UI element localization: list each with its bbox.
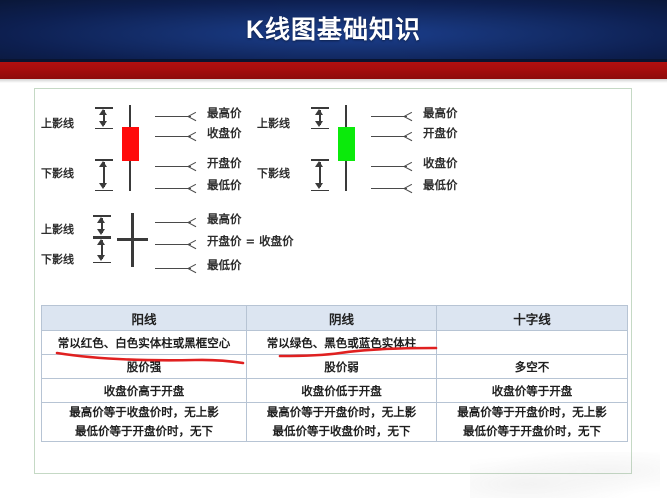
- table-row: 收盘价高于开盘 收盘价低于开盘 收盘价等于开盘: [42, 379, 628, 403]
- open-equals-close-label: 开盘价 = 收盘价: [207, 233, 294, 249]
- upper-shadow-bracket: [311, 107, 329, 129]
- lower-shadow-bracket: [93, 237, 111, 263]
- arrow-to-high: [155, 217, 199, 227]
- cell-doji-strength: 多空不: [437, 355, 628, 379]
- arrow-to-open-close: [155, 239, 199, 249]
- close-price-label: 收盘价: [423, 155, 458, 171]
- low-price-label: 最低价: [207, 257, 242, 273]
- close-price-label: 收盘价: [207, 125, 242, 141]
- lower-shadow-label: 下影线: [41, 251, 74, 267]
- arrow-to-close: [371, 161, 415, 171]
- background-watermark: [470, 452, 660, 498]
- accent-band: [0, 62, 667, 79]
- cell-doji-relation: 收盘价等于开盘: [437, 379, 628, 403]
- content-panel: 上影线 下影线: [34, 88, 632, 474]
- bearish-body: [338, 127, 355, 161]
- cell-bullish-strength: 股价强: [42, 355, 247, 379]
- table-row: 常以红色、白色实体柱或黑框空心 常以绿色、黑色或蓝色实体柱: [42, 331, 628, 355]
- bullish-candle-diagram: 上影线 下影线: [41, 95, 291, 203]
- upper-shadow-bracket: [93, 215, 111, 237]
- arrow-to-open: [155, 161, 199, 171]
- arrow-to-low: [155, 183, 199, 193]
- slide-title-bar: K线图基础知识: [0, 0, 667, 62]
- arrow-to-open: [371, 131, 415, 141]
- lower-shadow-bracket: [95, 159, 113, 191]
- open-price-label: 开盘价: [207, 155, 242, 171]
- high-price-label: 最高价: [207, 105, 242, 121]
- high-price-label: 最高价: [207, 211, 242, 227]
- lower-shadow-label: 下影线: [257, 165, 290, 181]
- doji-cross-bar: [117, 238, 148, 241]
- cell-bearish-relation: 收盘价低于开盘: [247, 379, 437, 403]
- high-price-label: 最高价: [423, 105, 458, 121]
- cell-bearish-strength: 股价弱: [247, 355, 437, 379]
- upper-shadow-label: 上影线: [41, 221, 74, 237]
- arrow-to-high: [155, 111, 199, 121]
- open-price-label: 开盘价: [423, 125, 458, 141]
- cell-bullish-relation: 收盘价高于开盘: [42, 379, 247, 403]
- page-title: K线图基础知识: [0, 0, 667, 60]
- cell-bearish-color: 常以绿色、黑色或蓝色实体柱: [247, 331, 437, 355]
- column-header-bearish: 阴线: [247, 306, 437, 331]
- arrow-to-low: [155, 263, 199, 273]
- bullish-body: [122, 127, 139, 161]
- cell-doji-shadow-rule: 最高价等于开盘价时，无上影最低价等于开盘价时，无下: [437, 403, 628, 442]
- low-price-label: 最低价: [207, 177, 242, 193]
- arrow-to-high: [371, 111, 415, 121]
- comparison-table-wrapper: 阳线 阴线 十字线 常以红色、白色实体柱或黑框空心 常以绿色、黑色或蓝色实体柱 …: [41, 305, 627, 442]
- candlestick-diagrams: 上影线 下影线: [35, 89, 633, 301]
- lower-shadow-bracket: [311, 159, 329, 191]
- bearish-candle-diagram: 上影线 下影线: [257, 95, 507, 203]
- cell-bullish-shadow-rule: 最高价等于收盘价时，无上影最低价等于开盘价时，无下: [42, 403, 247, 442]
- table-header-row: 阳线 阴线 十字线: [42, 306, 628, 331]
- cell-doji-color: [437, 331, 628, 355]
- lower-shadow-label: 下影线: [41, 165, 74, 181]
- candle-comparison-table: 阳线 阴线 十字线 常以红色、白色实体柱或黑框空心 常以绿色、黑色或蓝色实体柱 …: [41, 305, 628, 442]
- upper-shadow-bracket: [95, 107, 113, 129]
- accent-band-shadow: [0, 79, 667, 83]
- arrow-to-close: [155, 131, 199, 141]
- column-header-doji: 十字线: [437, 306, 628, 331]
- upper-shadow-label: 上影线: [41, 115, 74, 131]
- table-row: 最高价等于收盘价时，无上影最低价等于开盘价时，无下 最高价等于开盘价时，无上影最…: [42, 403, 628, 442]
- cell-bullish-color: 常以红色、白色实体柱或黑框空心: [42, 331, 247, 355]
- column-header-bullish: 阳线: [42, 306, 247, 331]
- cell-bearish-shadow-rule: 最高价等于开盘价时，无上影最低价等于收盘价时，无下: [247, 403, 437, 442]
- upper-shadow-label: 上影线: [257, 115, 290, 131]
- doji-candle-diagram: 上影线 下影线: [41, 207, 331, 293]
- table-row: 股价强 股价弱 多空不: [42, 355, 628, 379]
- arrow-to-low: [371, 183, 415, 193]
- low-price-label: 最低价: [423, 177, 458, 193]
